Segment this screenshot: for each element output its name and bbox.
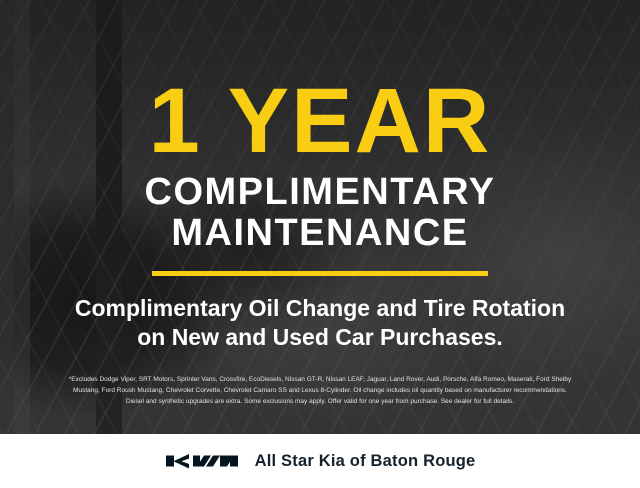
- hero-section: 1 YEAR COMPLIMENTARY MAINTENANCE Complim…: [0, 0, 640, 434]
- dealer-name: All Star Kia of Baton Rouge: [255, 452, 476, 471]
- disclaimer-line-2: Mustang, Ford Roush Mustang, Chevrolet C…: [14, 385, 626, 396]
- subheadline-line-2: MAINTENANCE: [145, 213, 496, 253]
- offer-description: Complimentary Oil Change and Tire Rotati…: [75, 294, 565, 353]
- subheadline: COMPLIMENTARY MAINTENANCE: [145, 172, 496, 253]
- footer-bar: All Star Kia of Baton Rouge: [0, 434, 640, 488]
- headline-1-year: 1 YEAR: [149, 78, 492, 164]
- disclaimer-line-1: *Excludes Dodge Viper, SRT Motors, Sprin…: [14, 374, 626, 385]
- promo-banner: 1 YEAR COMPLIMENTARY MAINTENANCE Complim…: [0, 0, 640, 488]
- offer-line-1: Complimentary Oil Change and Tire Rotati…: [75, 295, 565, 321]
- subheadline-line-1: COMPLIMENTARY: [145, 171, 496, 213]
- disclaimer-fine-print: *Excludes Dodge Viper, SRT Motors, Sprin…: [14, 374, 626, 408]
- offer-line-2: on New and Used Car Purchases.: [75, 323, 565, 352]
- disclaimer-line-3: Diesel and synthetic upgrades are extra.…: [14, 396, 626, 407]
- yellow-divider-rule: [152, 271, 488, 276]
- hero-content: 1 YEAR COMPLIMENTARY MAINTENANCE Complim…: [0, 0, 640, 434]
- kia-logo: [165, 449, 239, 473]
